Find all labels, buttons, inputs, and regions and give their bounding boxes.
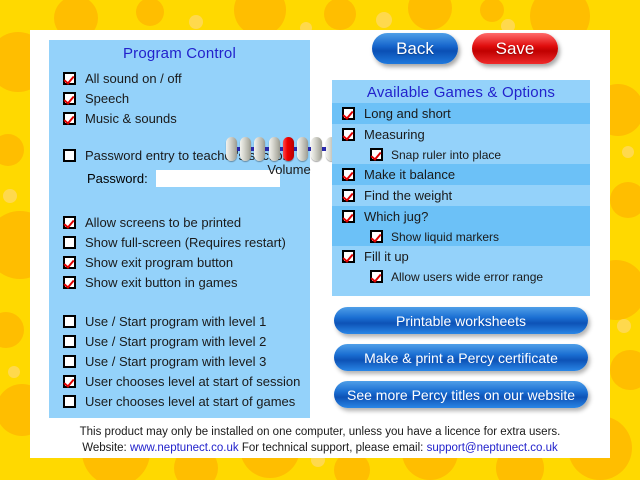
game-label: Measuring [364,127,425,142]
game-item[interactable]: Fill it up [332,246,590,267]
game-sub-option[interactable]: Allow users wide error range [332,267,590,286]
level-option-label: User chooses level at start of games [85,394,295,409]
program-control-title: Program Control [49,40,310,62]
game-sub-checkbox[interactable] [370,230,383,243]
display-option-label: Allow screens to be printed [85,215,241,230]
footer-licence-text: This product may only be installed on on… [30,424,610,440]
printable-worksheets-button[interactable]: Printable worksheets [334,307,588,334]
display-option-item[interactable]: Show exit program button [49,252,310,272]
volume-step[interactable] [269,137,280,161]
display-option-item[interactable]: Allow screens to be printed [49,212,310,232]
game-sub-option[interactable]: Snap ruler into place [332,145,590,164]
games-list: Long and shortMeasuringSnap ruler into p… [332,103,590,286]
level-option-item[interactable]: Use / Start program with level 1 [49,311,310,331]
game-sub-checkbox[interactable] [370,148,383,161]
sound-options-group: All sound on / offSpeechMusic & sounds [49,68,310,128]
sound-option-checkbox[interactable] [63,72,76,85]
level-option-checkbox[interactable] [63,395,76,408]
display-option-checkbox[interactable] [63,236,76,249]
password-entry-checkbox[interactable] [63,149,76,162]
level-option-checkbox[interactable] [63,315,76,328]
sound-option-checkbox[interactable] [63,92,76,105]
sound-option-item[interactable]: Music & sounds [49,108,310,128]
volume-step[interactable] [283,137,294,161]
percy-certificate-button[interactable]: Make & print a Percy certificate [334,344,588,371]
percy-certificate-label: Make & print a Percy certificate [364,350,558,366]
program-control-panel: Program Control All sound on / offSpeech… [49,40,310,418]
volume-step[interactable] [226,137,237,161]
display-option-label: Show exit button in games [85,275,237,290]
game-item[interactable]: Which jug? [332,206,590,227]
volume-step[interactable] [240,137,251,161]
back-button-label: Back [396,39,434,59]
level-option-label: User chooses level at start of session [85,374,300,389]
save-button-label: Save [496,39,535,59]
level-option-item[interactable]: User chooses level at start of games [49,391,310,411]
game-label: Make it balance [364,167,455,182]
available-games-panel: Available Games & Options Long and short… [332,80,590,296]
display-option-item[interactable]: Show exit button in games [49,272,310,292]
game-label: Which jug? [364,209,428,224]
level-option-checkbox[interactable] [63,355,76,368]
footer-contact-line: Website: www.neptunect.co.uk For technic… [30,440,610,456]
display-option-checkbox[interactable] [63,256,76,269]
game-checkbox[interactable] [342,128,355,141]
game-sub-label: Show liquid markers [391,230,499,244]
display-options-group: Allow screens to be printedShow full-scr… [49,212,310,292]
game-item[interactable]: Make it balance [332,164,590,185]
level-option-item[interactable]: User chooses level at start of session [49,371,310,391]
level-options-group: Use / Start program with level 1Use / St… [49,311,310,411]
game-checkbox[interactable] [342,210,355,223]
level-option-label: Use / Start program with level 2 [85,334,266,349]
game-label: Fill it up [364,249,409,264]
game-sub-label: Snap ruler into place [391,148,501,162]
available-games-title: Available Games & Options [332,80,590,103]
display-option-checkbox[interactable] [63,276,76,289]
game-checkbox[interactable] [342,107,355,120]
display-option-checkbox[interactable] [63,216,76,229]
sound-option-checkbox[interactable] [63,112,76,125]
game-sub-option[interactable]: Show liquid markers [332,227,590,246]
password-field-label: Password: [87,171,148,186]
printable-worksheets-label: Printable worksheets [396,313,526,329]
level-option-item[interactable]: Use / Start program with level 3 [49,351,310,371]
footer-support-prefix: For technical support, please email: [242,442,424,454]
footer: This product may only be installed on on… [30,424,610,456]
game-sub-checkbox[interactable] [370,270,383,283]
volume-step[interactable] [311,137,322,161]
sound-option-item[interactable]: All sound on / off [49,68,310,88]
level-option-item[interactable]: Use / Start program with level 2 [49,331,310,351]
back-button[interactable]: Back [372,33,458,64]
game-label: Long and short [364,106,451,121]
display-option-label: Show full-screen (Requires restart) [85,235,286,250]
display-option-item[interactable]: Show full-screen (Requires restart) [49,232,310,252]
level-option-label: Use / Start program with level 1 [85,314,266,329]
game-item[interactable]: Find the weight [332,185,590,206]
display-option-label: Show exit program button [85,255,233,270]
level-option-checkbox[interactable] [63,335,76,348]
level-option-label: Use / Start program with level 3 [85,354,266,369]
game-label: Find the weight [364,188,452,203]
percy-titles-website-button[interactable]: See more Percy titles on our website [334,381,588,408]
support-email-link[interactable]: support@neptunect.co.uk [427,442,558,454]
game-sub-label: Allow users wide error range [391,270,543,284]
sound-option-label: Speech [85,91,129,106]
game-item[interactable]: Measuring [332,124,590,145]
sound-option-label: Music & sounds [85,111,177,126]
game-item[interactable]: Long and short [332,103,590,124]
sound-option-label: All sound on / off [85,71,182,86]
percy-titles-website-label: See more Percy titles on our website [347,387,575,403]
level-option-checkbox[interactable] [63,375,76,388]
save-button[interactable]: Save [472,33,558,64]
volume-step[interactable] [254,137,265,161]
footer-website-prefix: Website: [82,442,127,454]
website-link[interactable]: www.neptunect.co.uk [130,442,239,454]
volume-step[interactable] [297,137,308,161]
game-checkbox[interactable] [342,250,355,263]
game-checkbox[interactable] [342,168,355,181]
sound-option-item[interactable]: Speech [49,88,310,108]
game-checkbox[interactable] [342,189,355,202]
